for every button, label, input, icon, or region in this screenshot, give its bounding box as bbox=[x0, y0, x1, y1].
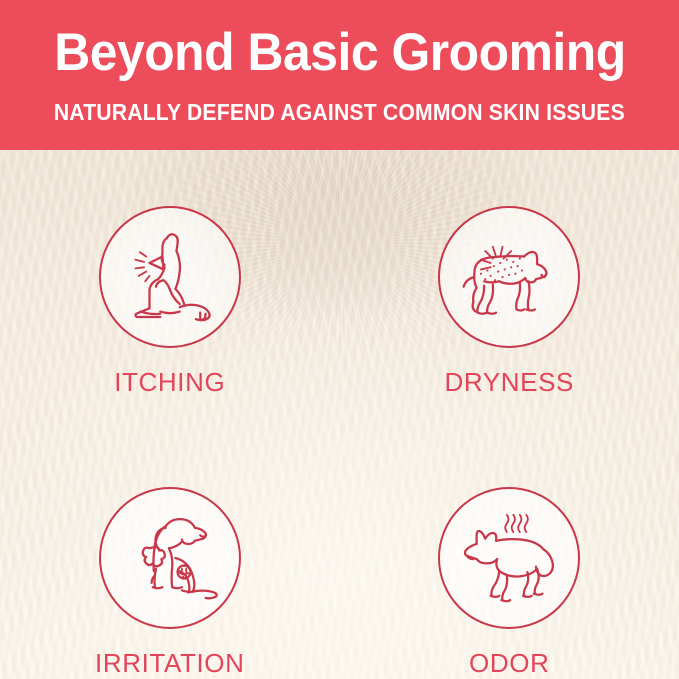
benefit-label-dryness: DRYNESS bbox=[445, 367, 574, 398]
header-banner: Beyond Basic Grooming NATURALLY DEFEND A… bbox=[0, 0, 679, 150]
benefit-icon-circle-dryness bbox=[438, 206, 580, 348]
benefit-icon-circle-itching bbox=[99, 206, 241, 348]
page-title: Beyond Basic Grooming bbox=[54, 26, 625, 79]
page-subtitle: NATURALLY DEFEND AGAINST COMMON SKIN ISS… bbox=[54, 101, 625, 124]
benefit-item-irritation: IRRITATION bbox=[0, 415, 340, 679]
benefit-item-dryness: DRYNESS bbox=[340, 150, 679, 415]
dog-irritated-skin-patch-icon bbox=[116, 504, 224, 612]
dog-dandruff-flakes-icon bbox=[455, 223, 563, 331]
benefit-item-odor: ODOR bbox=[340, 415, 679, 679]
benefit-grid: ITCHING bbox=[0, 150, 679, 679]
benefit-label-irritation: IRRITATION bbox=[95, 648, 244, 679]
dog-scratching-icon bbox=[116, 223, 224, 331]
benefit-icon-circle-odor bbox=[438, 487, 580, 629]
benefit-label-odor: ODOR bbox=[469, 648, 549, 679]
benefit-icon-circle-irritation bbox=[99, 487, 241, 629]
infographic-page: Beyond Basic Grooming NATURALLY DEFEND A… bbox=[0, 0, 679, 679]
dog-stink-lines-icon bbox=[455, 504, 563, 612]
benefit-item-itching: ITCHING bbox=[0, 150, 340, 415]
benefit-label-itching: ITCHING bbox=[114, 367, 225, 398]
